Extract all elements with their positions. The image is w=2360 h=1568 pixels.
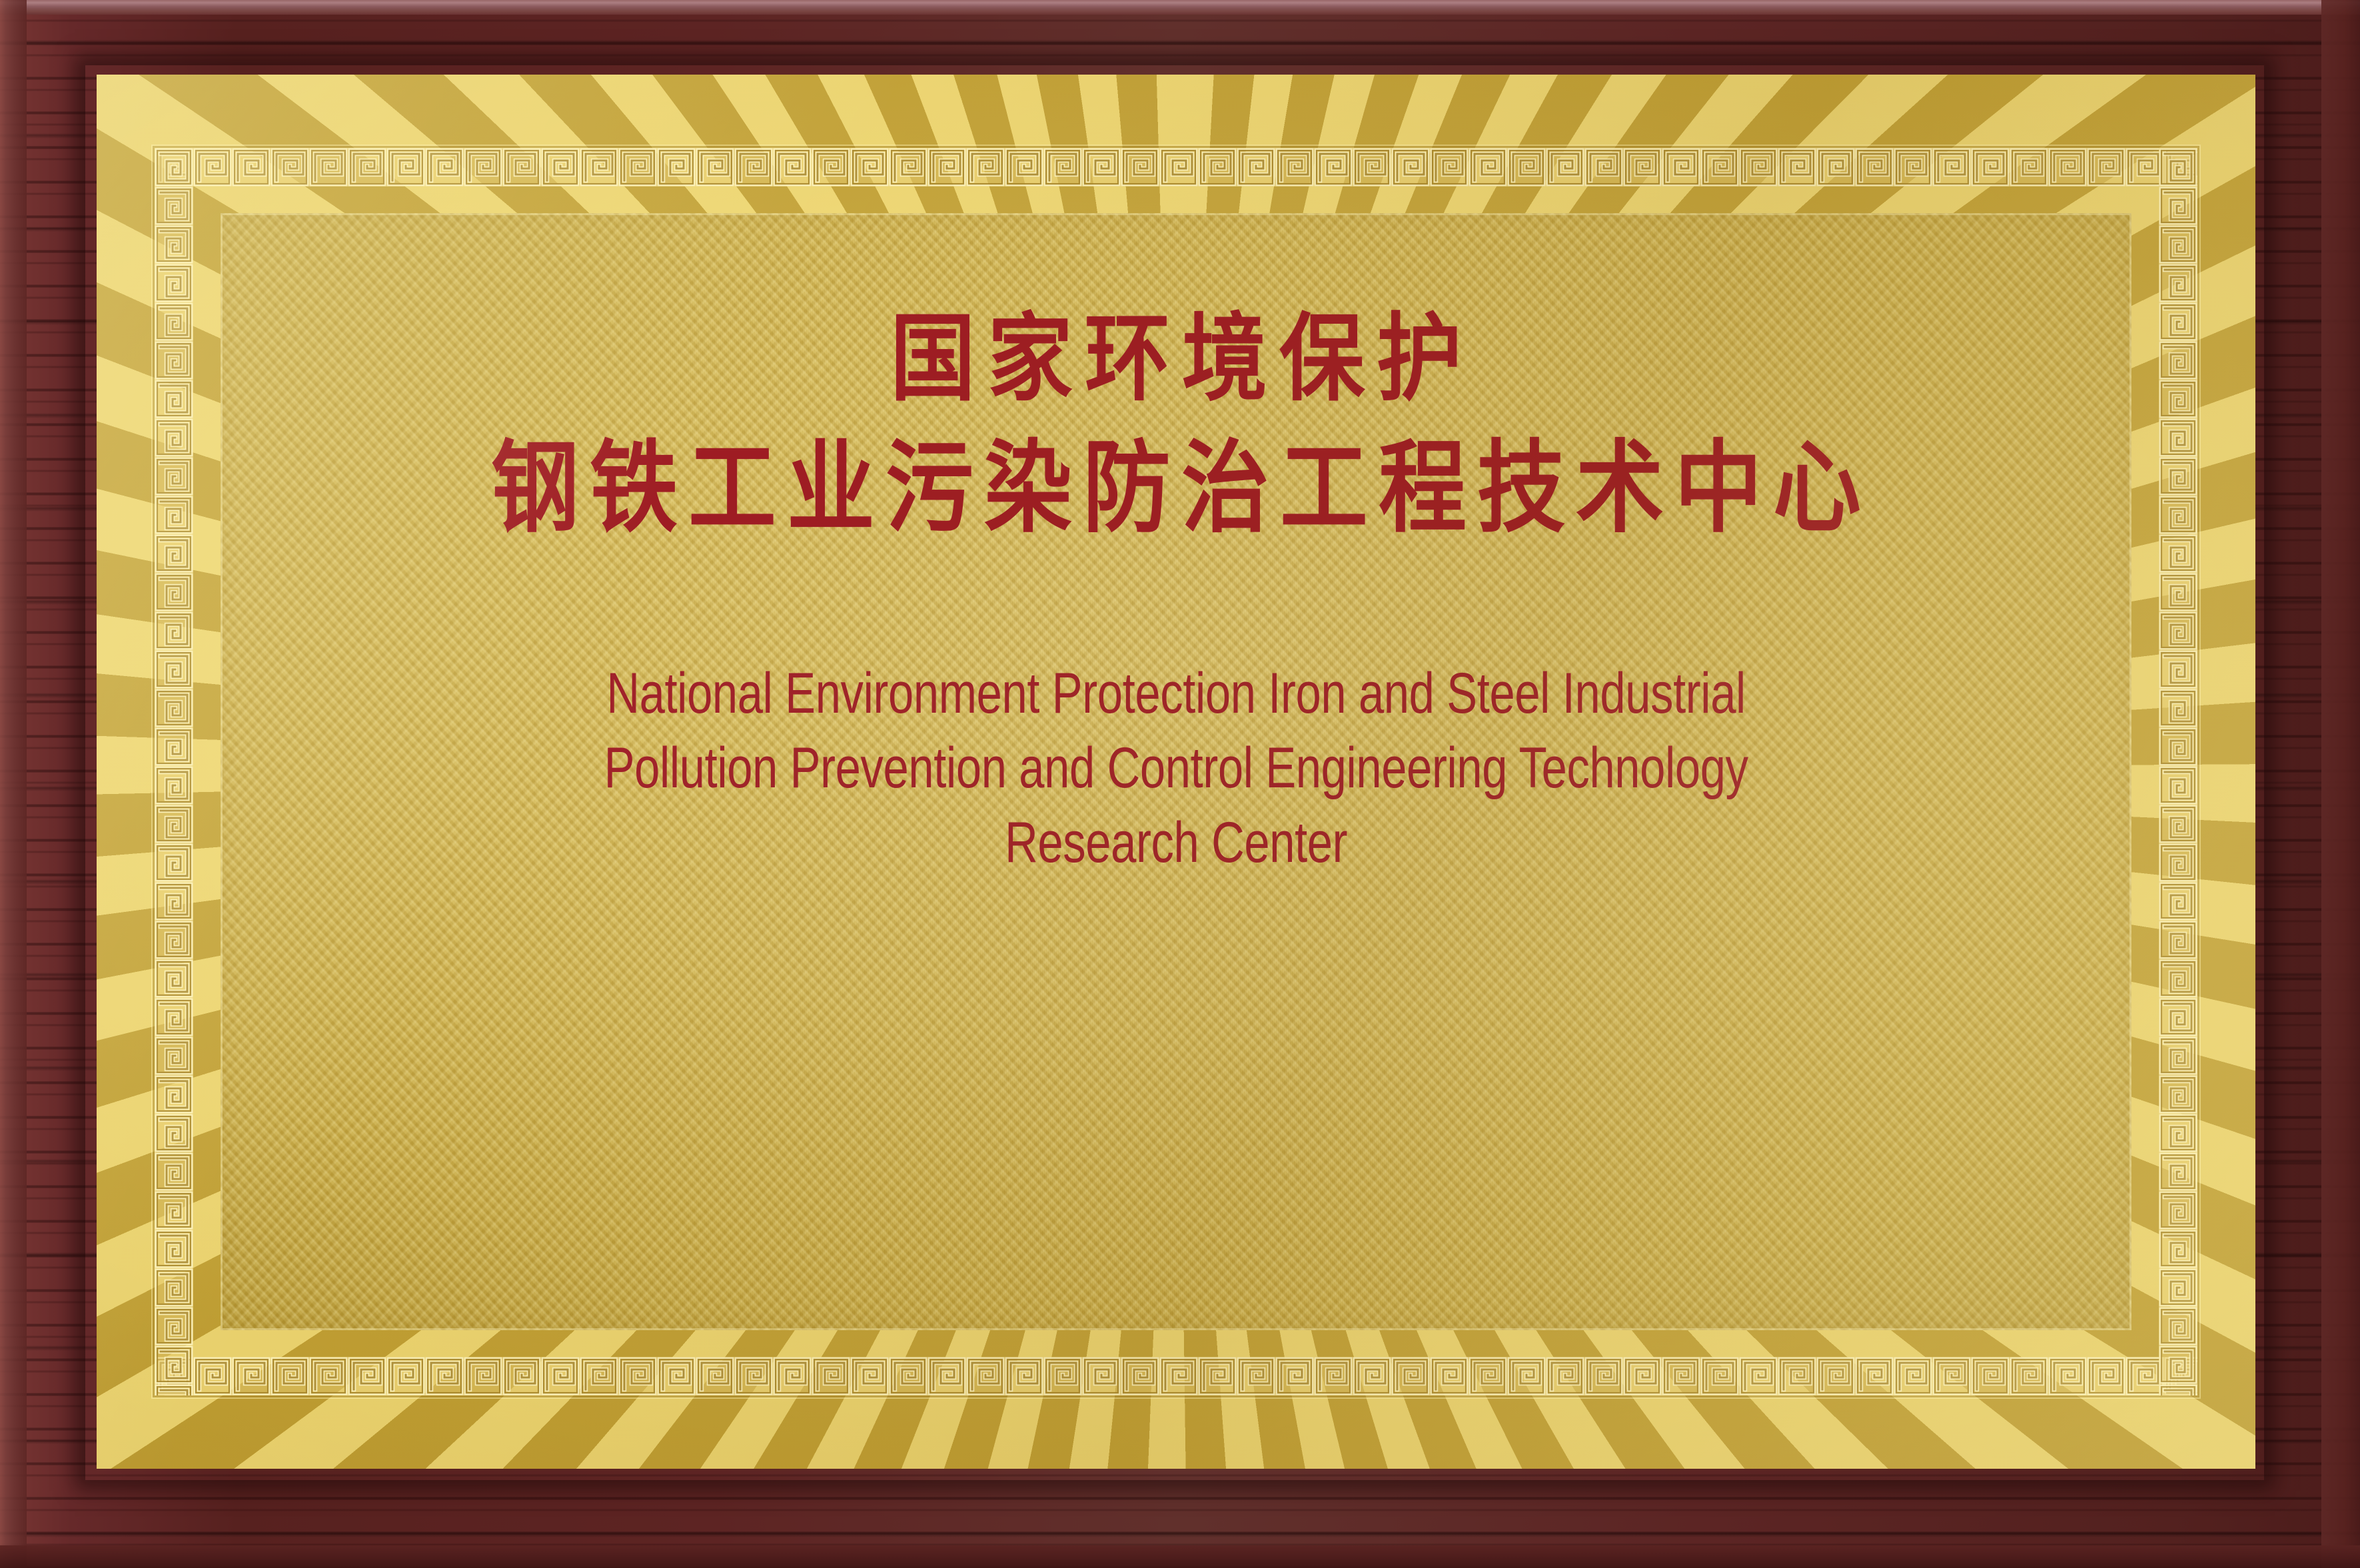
frame-bevel-left — [0, 0, 27, 1568]
greek-key-band-top — [155, 148, 2197, 187]
award-plaque: 国家环境保护 钢铁工业污染防治工程技术中心 National Environme… — [0, 0, 2360, 1568]
greek-key-band-left — [155, 148, 193, 1395]
greek-key-band-bottom — [155, 1357, 2197, 1395]
frame-bevel-top — [0, 0, 2360, 15]
frame-bevel-bottom — [0, 1545, 2360, 1568]
inner-textured-panel — [221, 213, 2131, 1330]
gold-plate: 国家环境保护 钢铁工业污染防治工程技术中心 National Environme… — [97, 75, 2255, 1469]
frame-bevel-right — [2321, 0, 2360, 1568]
greek-key-band-right — [2159, 148, 2197, 1395]
